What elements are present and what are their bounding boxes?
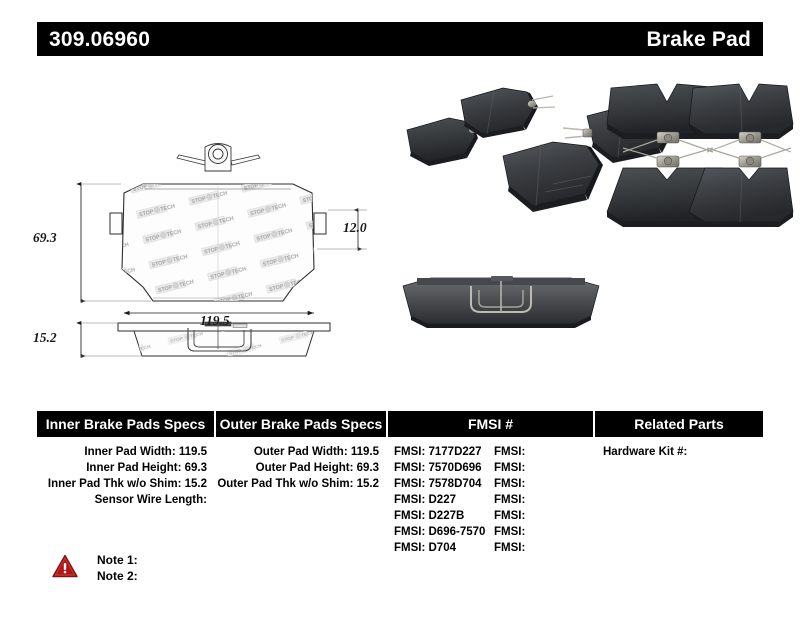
table-body-row: Inner Pad Width: 119.5 Inner Pad Height:… <box>37 437 763 556</box>
fmsi-row: FMSI: D227B <box>394 508 494 524</box>
fmsi-subcolumn-right: FMSI: FMSI: FMSI: FMSI: FMSI: FMSI: FMSI… <box>494 444 594 556</box>
notes-list: Note 1: Note 2: <box>97 552 138 584</box>
fmsi-row: FMSI: 7578D704 <box>394 476 494 492</box>
brake-pad-photographs <box>395 72 795 362</box>
wear-sensor-assembly <box>177 144 260 172</box>
fmsi-row: FMSI: <box>494 540 594 556</box>
spec-row: Sensor Wire Length: <box>37 492 216 508</box>
spec-row: Outer Pad Height: 69.3 <box>216 460 388 476</box>
spec-row: Outer Pad Thk w/o Shim: 15.2 <box>216 476 388 492</box>
column-header-outer-specs: Outer Brake Pads Specs <box>216 411 388 437</box>
dim-label-friction-thickness: 12.0 <box>343 220 367 236</box>
product-type-title: Brake Pad <box>646 29 751 50</box>
fmsi-column: FMSI: 7177D227 FMSI: 7570D696 FMSI: 7578… <box>388 444 595 556</box>
pad-photo-4 <box>503 142 603 212</box>
spec-row: Inner Pad Width: 119.5 <box>37 444 216 460</box>
column-header-fmsi: FMSI # <box>388 411 595 437</box>
fmsi-row: FMSI: 7177D227 <box>394 444 494 460</box>
fmsi-row: FMSI: <box>494 476 594 492</box>
pad-photo-8 <box>689 148 793 227</box>
fmsi-row: FMSI: D227 <box>394 492 494 508</box>
pad-photo-edge-view <box>403 276 599 328</box>
pad-photo-2 <box>461 88 555 138</box>
fmsi-subcolumn-left: FMSI: 7177D227 FMSI: 7570D696 FMSI: 7578… <box>394 444 494 556</box>
spec-row: Inner Pad Thk w/o Shim: 15.2 <box>37 476 216 492</box>
brake-pad-line-drawing: STOP TECH STOP TECH <box>55 117 405 367</box>
outer-specs-column: Outer Pad Width: 119.5 Outer Pad Height:… <box>216 444 388 556</box>
pad-photo-6 <box>689 84 793 152</box>
dim-label-overall-thickness: 15.2 <box>33 330 57 346</box>
dim-label-width: 119.5 <box>200 313 230 329</box>
spec-row: Outer Pad Width: 119.5 <box>216 444 388 460</box>
table-header-row: Inner Brake Pads Specs Outer Brake Pads … <box>37 411 763 437</box>
product-photos <box>395 72 795 362</box>
fmsi-row: FMSI: <box>494 508 594 524</box>
related-part-row: Hardware Kit #: <box>595 444 763 460</box>
fmsi-row: FMSI: <box>494 524 594 540</box>
pad-front-view <box>110 184 326 301</box>
spec-row: Inner Pad Height: 69.3 <box>37 460 216 476</box>
fmsi-row: FMSI: <box>494 492 594 508</box>
notes-block: Note 1: Note 2: <box>52 552 138 584</box>
fmsi-row: FMSI: 7570D696 <box>394 460 494 476</box>
part-number: 309.06960 <box>49 29 150 50</box>
related-parts-column: Hardware Kit #: <box>595 444 763 556</box>
dim-label-height: 69.3 <box>33 230 57 246</box>
illustration-area: STOP TECH STOP TECH <box>0 62 800 402</box>
column-header-related-parts: Related Parts <box>595 411 763 437</box>
specification-table: Inner Brake Pads Specs Outer Brake Pads … <box>37 411 763 556</box>
fmsi-row: FMSI: D704 <box>394 540 494 556</box>
fmsi-row: FMSI: D696-7570 <box>394 524 494 540</box>
technical-drawing: STOP TECH STOP TECH <box>55 117 405 367</box>
column-header-inner-specs: Inner Brake Pads Specs <box>37 411 216 437</box>
fmsi-row: FMSI: <box>494 460 594 476</box>
note-item: Note 2: <box>97 568 138 584</box>
header-bar: 309.06960 Brake Pad <box>37 22 763 56</box>
fmsi-row: FMSI: <box>494 444 594 460</box>
warning-triangle-icon <box>52 554 78 578</box>
note-item: Note 1: <box>97 552 138 568</box>
inner-specs-column: Inner Pad Width: 119.5 Inner Pad Height:… <box>37 444 216 556</box>
